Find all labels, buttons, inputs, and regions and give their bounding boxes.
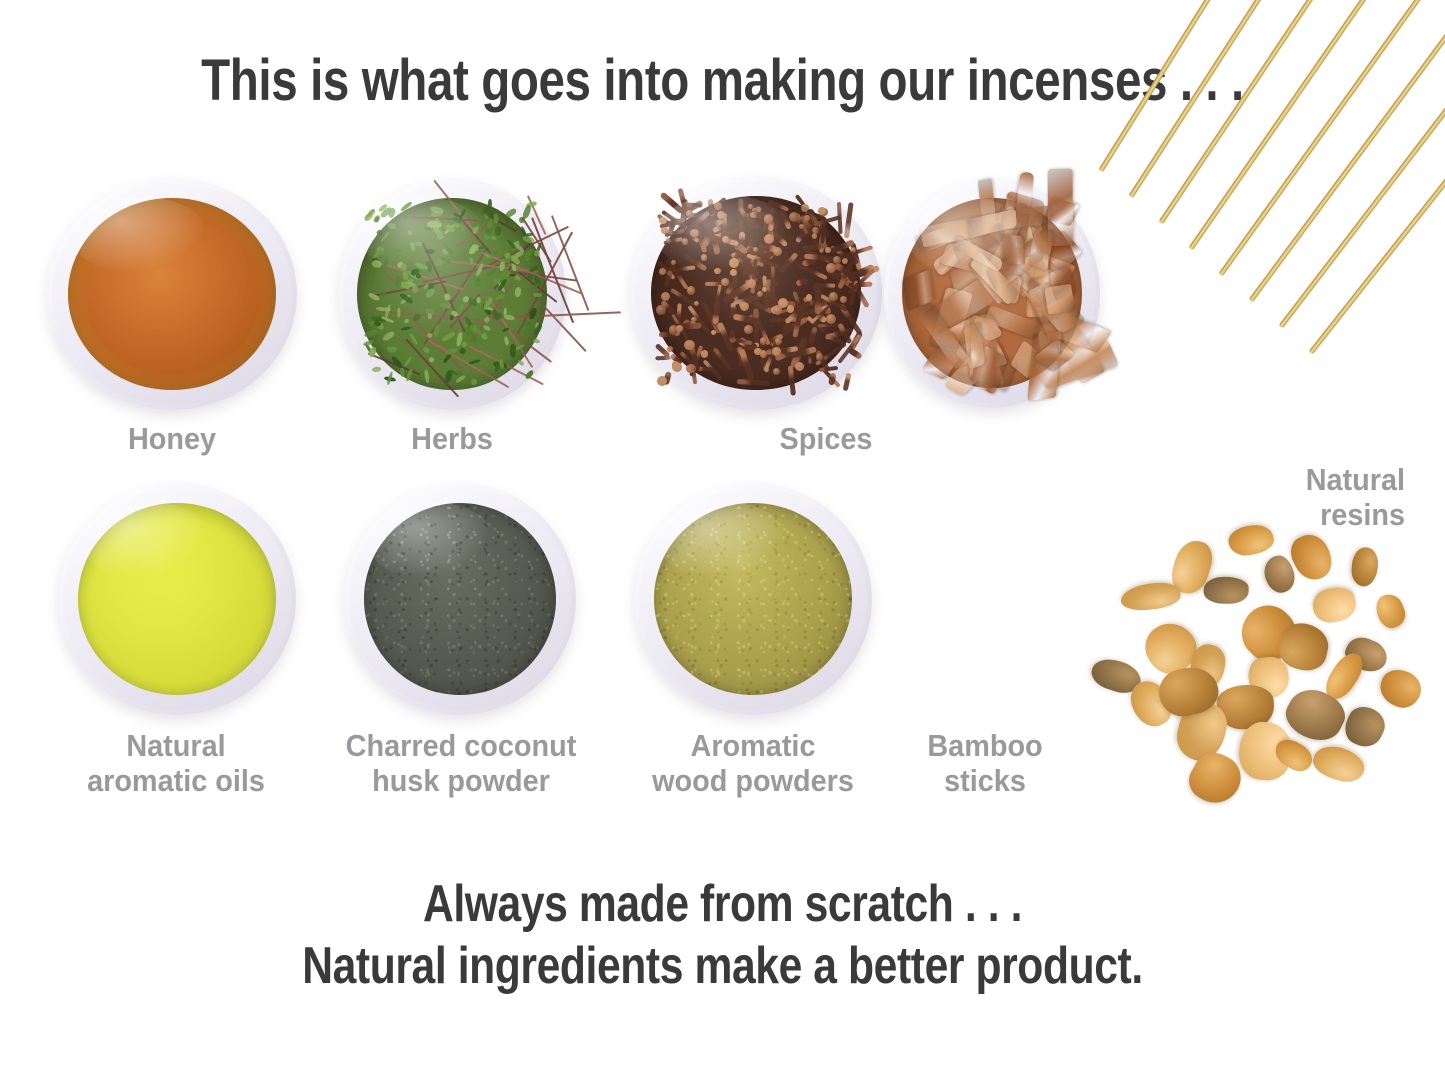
clove-bud [661, 292, 670, 301]
herb-leaf [379, 290, 387, 299]
herb-leaf [533, 293, 542, 298]
label-bamboo-sticks: Bamboo sticks [897, 728, 1074, 798]
cinnamon-bark-contents [902, 198, 1081, 389]
clove-bud [676, 325, 683, 332]
clove-bud [775, 338, 783, 346]
clove-bud [714, 202, 721, 209]
herb-leaf [424, 287, 436, 299]
herb-leaf [403, 356, 413, 368]
herb-leaf [440, 330, 455, 342]
label-charred-coconut-husk-powder: Charred coconut husk powder [321, 728, 602, 798]
bark-piece [1044, 284, 1075, 315]
label-aromatic-wood-powders: Aromatic wood powders [618, 728, 888, 798]
clove [808, 326, 818, 344]
herb-leaf [402, 214, 407, 221]
clove-bud [789, 212, 799, 222]
herb-leaf [488, 198, 492, 208]
clove-bud [691, 317, 697, 323]
clove-bud [687, 286, 695, 294]
herb-leaf [394, 249, 403, 254]
herb-leaf [469, 257, 473, 264]
herb-leaf [469, 358, 481, 364]
clove-bud [671, 260, 677, 266]
herb-leaf [511, 220, 519, 227]
clove-bud [682, 238, 688, 244]
clove [844, 202, 854, 238]
clove-bud [740, 302, 749, 311]
herb-leaf [477, 298, 482, 304]
resin-chunk [1204, 577, 1249, 604]
herb-leaf [522, 322, 532, 326]
herb-leaf [372, 261, 383, 269]
clove-bud [747, 279, 756, 288]
herb-leaf [493, 278, 500, 284]
herbs-contents [357, 198, 546, 391]
clove-bud [701, 254, 707, 260]
clove-bud [829, 292, 838, 301]
resin-chunk [1227, 522, 1276, 558]
herb-leaf [391, 355, 404, 368]
clove-bud [744, 325, 753, 334]
bowl-herbs [338, 178, 566, 410]
herb-leaf [378, 250, 384, 255]
label-honey: Honey [56, 421, 289, 456]
clove-bud [690, 229, 699, 238]
herb-leaf [505, 207, 518, 218]
spices-contents [651, 196, 860, 390]
herb-leaf [475, 277, 481, 287]
clove-bud [804, 215, 809, 220]
clove-bud [773, 368, 780, 375]
herb-stem [411, 216, 477, 222]
clove [842, 372, 851, 390]
clove [815, 286, 821, 314]
clove-bud [730, 269, 737, 276]
herb-leaf [381, 330, 396, 343]
herb-leaf [471, 378, 478, 385]
herb-leaf [486, 268, 497, 277]
herb-leaf [486, 218, 495, 228]
bowl-honey [47, 178, 297, 410]
herb-leaf [381, 316, 395, 324]
bowl-natural-aromatic-oils [58, 483, 296, 715]
label-herbs: Herbs [346, 421, 558, 456]
clove-bud [657, 376, 667, 386]
herb-leaf [414, 242, 422, 247]
herb-leaf [363, 329, 377, 338]
clove-bud [672, 362, 682, 372]
herb-stem [405, 338, 459, 398]
clove [771, 264, 776, 298]
clove [796, 278, 809, 287]
herb-leaf [514, 287, 521, 298]
clove-bud [717, 211, 725, 219]
resin-chunk [1371, 590, 1409, 632]
clove-bud [816, 353, 824, 361]
clove-bud [764, 234, 774, 244]
herb-leaf [425, 249, 435, 254]
bowl-spices [630, 176, 882, 410]
herb-stem [500, 311, 621, 319]
clove-bud [661, 227, 668, 234]
herb-leaf [514, 275, 522, 282]
herb-leaf [407, 229, 414, 236]
clove-bud [694, 301, 699, 306]
herb-leaf [424, 369, 430, 383]
clove-bud [659, 217, 667, 225]
label-natural-aromatic-oils: Natural aromatic oils [46, 728, 306, 798]
herb-leaf [482, 324, 491, 331]
herb-leaf [510, 344, 516, 358]
clove-bud [760, 337, 768, 345]
herb-leaf [458, 346, 467, 355]
natural-resins-group [1095, 520, 1415, 805]
clove [729, 329, 737, 343]
clove-bud [722, 236, 729, 243]
resin-chunk [1310, 584, 1359, 626]
clove-bud [773, 247, 782, 256]
herb-leaf [470, 336, 477, 341]
clove-bud [701, 350, 709, 358]
herb-leaf [493, 372, 501, 379]
clove [837, 202, 842, 234]
herb-leaf [532, 338, 540, 344]
clove [788, 366, 796, 396]
clove-bud [760, 350, 768, 358]
clove-bud [799, 224, 804, 229]
aromatic-oil-liquid [78, 503, 276, 696]
resin-chunk [1350, 547, 1380, 589]
bowl-charred-coconut-husk-powder [344, 483, 576, 715]
clove-bud [757, 291, 763, 297]
herb-leaf [387, 222, 397, 231]
clove-bud [753, 247, 758, 252]
clove-bud [729, 258, 739, 268]
herb-leaf [503, 307, 507, 316]
resin-chunk [1339, 701, 1390, 753]
honey-liquid [68, 198, 276, 391]
herb-leaf [403, 318, 409, 324]
bark-piece [1001, 234, 1025, 265]
clove-bud [714, 268, 720, 274]
herb-leaf [524, 232, 534, 236]
clove-bud [840, 296, 847, 303]
charred-powder [364, 503, 557, 696]
herb-leaf [428, 356, 435, 363]
clove-bud [667, 346, 673, 352]
resin-chunk [1119, 580, 1181, 612]
clove-bud [711, 330, 717, 336]
herb-leaf [387, 346, 397, 353]
herb-leaf [518, 216, 525, 223]
clove-bud [748, 204, 753, 209]
clove-bud [826, 314, 836, 324]
clove-bud [795, 362, 804, 371]
herb-leaf [455, 375, 466, 384]
herb-leaf [399, 201, 413, 213]
herb-leaf [423, 347, 431, 355]
clove [753, 308, 759, 342]
page-title: This is what goes into making our incens… [130, 50, 1315, 112]
clove [847, 347, 863, 360]
herb-leaf [506, 218, 510, 228]
wood-powder [654, 503, 852, 696]
clove-bud [772, 347, 781, 356]
herb-leaf [480, 332, 489, 340]
resin-chunk [1309, 741, 1368, 786]
clove-bud [659, 268, 666, 275]
herb-stem [551, 216, 590, 312]
clove-bud [787, 305, 794, 312]
clove [655, 355, 671, 360]
footer-line-2: Natural ingredients make a better produc… [130, 938, 1315, 994]
clove [712, 302, 720, 325]
clove-bud [764, 214, 774, 224]
clove [778, 251, 798, 273]
herb-leaf [516, 359, 524, 367]
clove-bud [806, 294, 812, 300]
poster-canvas: This is what goes into making our incens… [0, 0, 1445, 1073]
herb-leaf [503, 336, 509, 346]
herb-leaf [371, 366, 381, 372]
footer-line-1: Always made from scratch . . . [130, 876, 1315, 932]
clove-bud [684, 340, 694, 350]
bowl-aromatic-wood-powders [634, 483, 872, 715]
herb-leaf [533, 249, 540, 256]
herb-leaf [428, 313, 433, 319]
herb-leaf [495, 225, 501, 235]
herb-leaf [401, 326, 411, 331]
resin-chunk [1375, 664, 1426, 713]
clove-bud [686, 364, 695, 373]
clove-bud [656, 305, 665, 314]
